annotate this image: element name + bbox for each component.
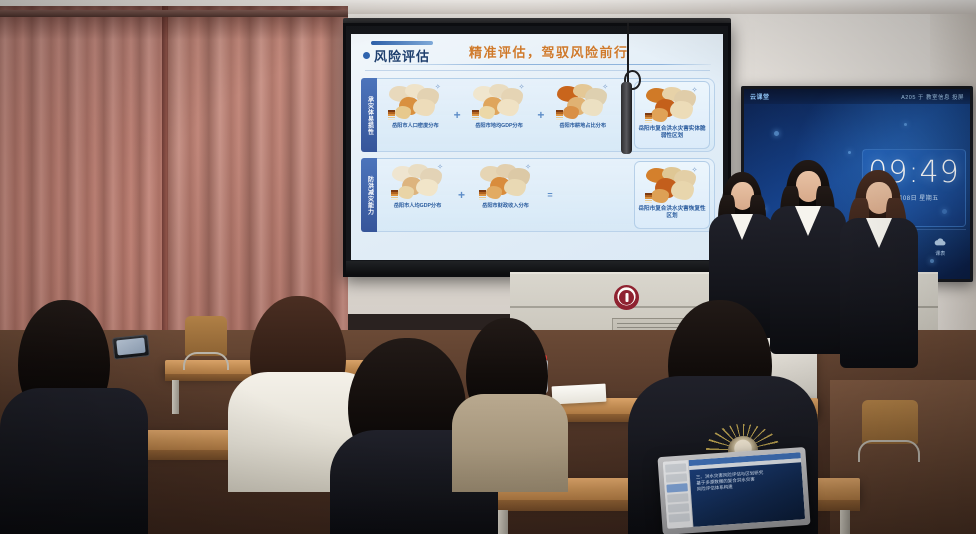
desk-leg bbox=[172, 380, 179, 414]
map-legend bbox=[645, 193, 652, 204]
laptop-current-slide: 三、洪水灾害风险评估与区划研究 基于多源数据的复合洪水灾害 风险评估体系构建 bbox=[689, 462, 805, 527]
map-cell: ✧ 岳阳市耕地占比分布 bbox=[548, 81, 617, 149]
slide-thumbnail[interactable] bbox=[668, 503, 690, 512]
panel-top-bar: 云课堂 A205 于 教室信息 投屏 bbox=[744, 89, 970, 104]
slide-row-resilience: 防洪减灾能力 bbox=[361, 158, 715, 232]
result-map-cell: ✧ 岳阳市复合洪水灾害恢复性区划 bbox=[634, 161, 710, 229]
compass-icon: ✧ bbox=[691, 86, 698, 95]
laptop-screen: 三、洪水灾害风险评估与区划研究 基于多源数据的复合洪水灾害 风险评估体系构建 bbox=[663, 452, 805, 528]
slide-row-vulnerability: 承灾体易损性 bbox=[361, 78, 715, 152]
map-legend bbox=[388, 110, 395, 121]
map-cell: ✧ 岳阳市财政收入分布 bbox=[469, 161, 542, 229]
result-map-caption: 岳阳市复合洪水灾害实体脆弱性区划 bbox=[638, 126, 706, 140]
map-legend bbox=[391, 190, 398, 201]
compass-icon: ✧ bbox=[434, 83, 441, 92]
slide-headline: 精准评估，驾驭风险前行 bbox=[469, 42, 629, 61]
row-body: ✧ 岳阳市人口密度分布 + bbox=[377, 78, 715, 152]
laptop[interactable]: 三、洪水灾害风险评估与区划研究 基于多源数据的复合洪水灾害 风险评估体系构建 bbox=[657, 447, 810, 534]
map-legend bbox=[472, 110, 479, 121]
slide-thumbnail[interactable] bbox=[668, 513, 690, 522]
cloud-icon bbox=[933, 237, 947, 248]
desk-leg bbox=[498, 510, 508, 534]
operator-plus: + bbox=[452, 109, 463, 121]
map-cell-spacer bbox=[557, 161, 630, 229]
curtains bbox=[0, 6, 348, 336]
desk-leg bbox=[840, 510, 850, 534]
slide-thumbnail[interactable] bbox=[666, 473, 688, 482]
slide-section-label: 风险评估 bbox=[374, 46, 430, 65]
map-caption: 岳阳市财政收入分布 bbox=[482, 203, 529, 209]
operator-plus: + bbox=[535, 109, 546, 121]
laptop-main-pane: 三、洪水灾害风险评估与区划研究 基于多源数据的复合洪水灾害 风险评估体系构建 bbox=[689, 452, 805, 527]
map-thumbnail: ✧ bbox=[555, 82, 611, 122]
classroom-scene: 风险评估 精准评估，驾驭风险前行 承灾体易损性 bbox=[0, 0, 976, 534]
row-body: ✧ 岳阳市人均GDP分布 + bbox=[377, 158, 715, 232]
chair-back bbox=[185, 316, 227, 356]
map-caption: 岳阳市地均GDP分布 bbox=[475, 123, 523, 129]
result-map-caption: 岳阳市复合洪水灾害恢复性区划 bbox=[638, 206, 706, 220]
header-rule-secondary bbox=[365, 70, 710, 71]
row-tab-label: 防洪减灾能力 bbox=[361, 158, 377, 232]
map-caption: 岳阳市耕地占比分布 bbox=[559, 123, 606, 129]
map-legend bbox=[556, 110, 563, 121]
papers bbox=[552, 384, 607, 405]
emblem-inner bbox=[619, 290, 634, 305]
map-caption: 岳阳市人均GDP分布 bbox=[394, 203, 442, 209]
compass-icon: ✧ bbox=[602, 83, 609, 92]
projection-screen[interactable]: 风险评估 精准评估，驾驭风险前行 承灾体易损性 bbox=[343, 23, 731, 277]
map-caption: 岳阳市人口密度分布 bbox=[392, 123, 439, 129]
phone-in-hand[interactable] bbox=[112, 334, 150, 360]
header-rule bbox=[381, 64, 711, 65]
map-thumbnail: ✧ bbox=[478, 162, 534, 202]
compass-icon: ✧ bbox=[525, 163, 532, 172]
operator-equals: = bbox=[544, 191, 555, 200]
phone-screen bbox=[116, 338, 145, 356]
slide-title-group: 风险评估 bbox=[363, 46, 430, 65]
chair-bar bbox=[858, 440, 920, 462]
slide-content: 风险评估 精准评估，驾驭风险前行 承灾体易损性 bbox=[351, 34, 723, 260]
school-emblem-icon bbox=[614, 285, 639, 310]
row-tab-label: 承灾体易损性 bbox=[361, 78, 377, 152]
map-thumbnail: ✧ bbox=[390, 162, 446, 202]
result-map-thumbnail: ✧ bbox=[644, 165, 700, 205]
panel-status-label: A205 于 教室信息 投屏 bbox=[901, 93, 964, 101]
panel-tile-label: 课表 bbox=[935, 250, 945, 257]
map-legend bbox=[479, 190, 486, 201]
result-map-cell: ✧ 岳阳市复合洪水灾害实体脆弱性区划 bbox=[634, 81, 710, 149]
result-map-thumbnail: ✧ bbox=[644, 85, 700, 125]
compass-icon: ✧ bbox=[691, 166, 698, 175]
chair-back bbox=[862, 400, 918, 444]
slide-thumbnail[interactable] bbox=[665, 463, 687, 472]
slide-accent-bar bbox=[371, 41, 433, 45]
microphone-icon bbox=[621, 82, 632, 154]
compass-icon: ✧ bbox=[437, 163, 444, 172]
map-thumbnail: ✧ bbox=[387, 82, 443, 122]
map-cell: ✧ 岳阳市人均GDP分布 bbox=[381, 161, 454, 229]
slide-thumbnail[interactable] bbox=[667, 493, 689, 502]
slide-thumbnail-selected[interactable] bbox=[666, 483, 688, 492]
ceiling-beam bbox=[300, 0, 976, 14]
panel-tile-schedule[interactable]: 课表 bbox=[915, 230, 967, 263]
map-legend bbox=[645, 113, 652, 124]
map-cell: ✧ 岳阳市人口密度分布 bbox=[381, 81, 450, 149]
bullet-icon bbox=[363, 52, 370, 59]
map-cell: ✧ 岳阳市地均GDP分布 bbox=[465, 81, 534, 149]
map-thumbnail: ✧ bbox=[471, 82, 527, 122]
panel-brand-label: 云课堂 bbox=[750, 92, 770, 101]
operator-plus: + bbox=[456, 189, 467, 201]
curtain-rod bbox=[0, 10, 348, 17]
chair-bar bbox=[183, 352, 229, 370]
curtain-panel-left bbox=[0, 6, 172, 336]
curtain-panel-right bbox=[168, 6, 348, 336]
compass-icon: ✧ bbox=[518, 83, 525, 92]
